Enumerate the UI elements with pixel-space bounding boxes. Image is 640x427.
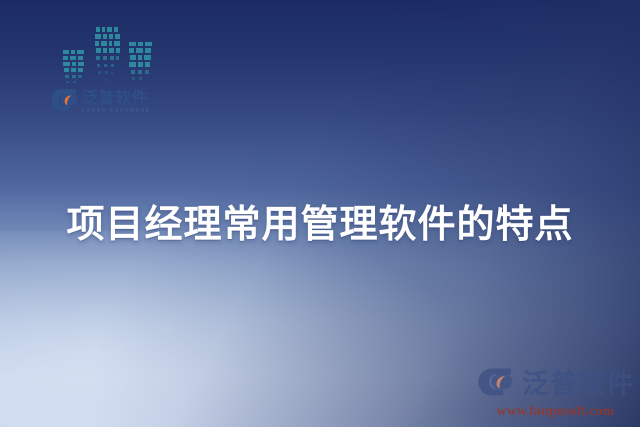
fanpu-hexagon-swoosh-icon xyxy=(52,88,78,117)
slide-canvas: 泛普软件 FANPU SOFTWARE 项目经理常用管理软件的特点 泛普软件 w… xyxy=(0,0,640,427)
skyline-tower-right xyxy=(129,40,155,84)
brand-logo: 泛普软件 FANPU SOFTWARE xyxy=(52,88,174,117)
brand-name-en: FANPU SOFTWARE xyxy=(82,109,151,114)
watermark: 泛普软件 www.fanpusoft.com xyxy=(477,367,634,419)
skyline-tower-left xyxy=(63,48,87,84)
city-skyline-icon xyxy=(63,22,163,84)
watermark-name-cn: 泛普软件 xyxy=(522,371,634,398)
watermark-logo-row: 泛普软件 xyxy=(477,367,634,402)
page-title: 项目经理常用管理软件的特点 xyxy=(0,193,640,248)
brand-name-cn: 泛普软件 xyxy=(82,90,148,107)
background-sheen xyxy=(0,231,461,427)
watermark-url: www.fanpusoft.com xyxy=(477,403,634,419)
brand-lockup: 泛普软件 FANPU SOFTWARE xyxy=(52,22,174,117)
fanpu-hexagon-swoosh-icon xyxy=(477,367,517,402)
skyline-tower-center xyxy=(95,26,123,84)
brand-name-block: 泛普软件 FANPU SOFTWARE xyxy=(82,91,151,114)
